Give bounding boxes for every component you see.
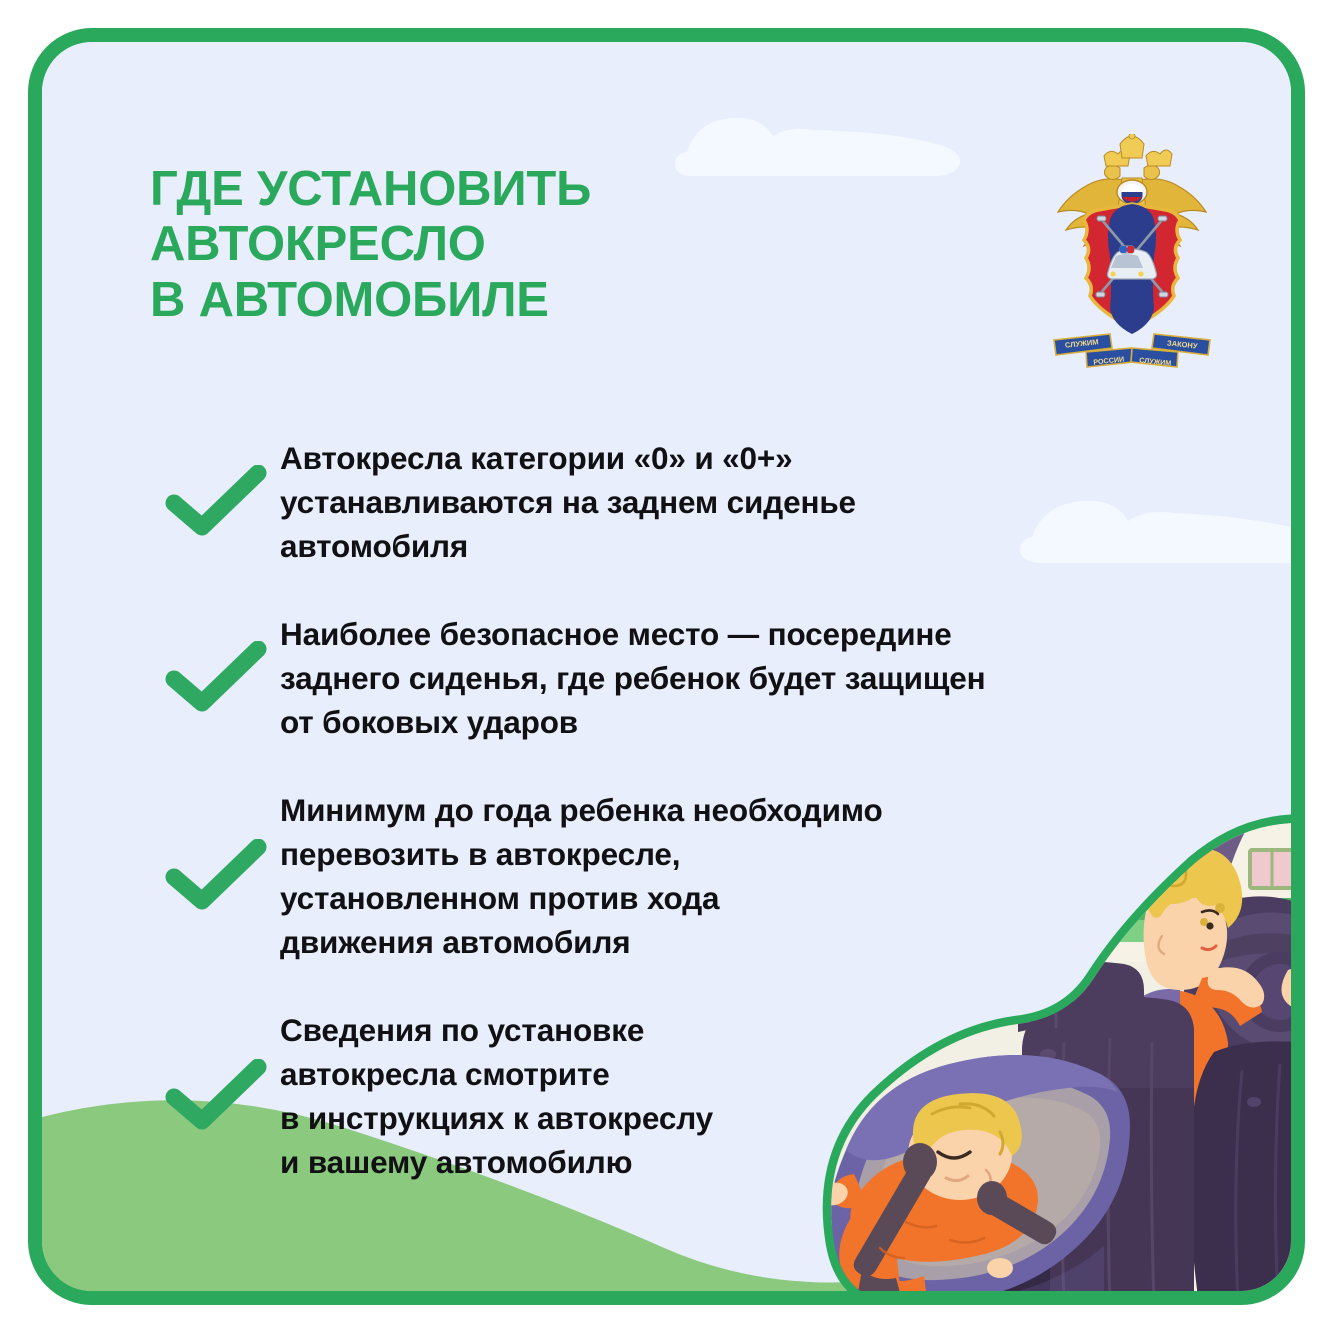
bullet-line: перевозить в автокресле, bbox=[280, 832, 1172, 876]
bullet-line: и вашему автомобилю bbox=[280, 1140, 1172, 1184]
bullet-line: от боковых ударов bbox=[280, 700, 1172, 744]
title-line-1: ГДЕ УСТАНОВИТЬ bbox=[150, 162, 770, 217]
list-item-text: Минимум до года ребенка необходимо перев… bbox=[280, 786, 1172, 964]
gibdd-shield bbox=[1084, 204, 1180, 334]
list-item-text: Автокресла категории «0» и «0+» устанавл… bbox=[280, 434, 1172, 568]
bullet-line: Автокресла категории «0» и «0+» bbox=[280, 436, 1172, 480]
title-line-3: В АВТОМОБИЛЕ bbox=[150, 273, 770, 328]
check-icon bbox=[152, 462, 280, 540]
list-item: Наиболее безопасное место — посередине з… bbox=[152, 610, 1172, 744]
mvd-emblem-icon: СЛУЖИМ ЗАКОНУ РОССИИ СЛУЖИМ bbox=[1042, 134, 1222, 384]
bullet-line: движения автомобиля bbox=[280, 920, 1172, 964]
bullet-line: заднего сиденья, где ребенок будет защищ… bbox=[280, 656, 1172, 700]
motto-center-top: РОССИИ bbox=[1093, 354, 1125, 366]
bullet-line: автомобиля bbox=[280, 524, 1172, 568]
infographic-poster: ГДЕ УСТАНОВИТЬ АВТОКРЕСЛО В АВТОМОБИЛЕ bbox=[28, 28, 1305, 1305]
bullet-line: в инструкциях к автокреслу bbox=[280, 1096, 1172, 1140]
bullet-line: установленном против хода bbox=[280, 876, 1172, 920]
bullet-list: Автокресла категории «0» и «0+» устанавл… bbox=[152, 434, 1172, 1184]
list-item: Минимум до года ребенка необходимо перев… bbox=[152, 786, 1172, 964]
list-item-text: Наиболее безопасное место — посередине з… bbox=[280, 610, 1172, 744]
front-seat bbox=[1189, 1041, 1305, 1305]
check-icon bbox=[152, 836, 280, 914]
list-item-text: Сведения по установке автокресла смотрит… bbox=[280, 1006, 1172, 1184]
bullet-line: устанавливаются на заднем сиденье bbox=[280, 480, 1172, 524]
bullet-line: Наиболее безопасное место — посередине bbox=[280, 612, 1172, 656]
bullet-line: Сведения по установке bbox=[280, 1008, 1172, 1052]
check-icon bbox=[152, 638, 280, 716]
title-line-2: АВТОКРЕСЛО bbox=[150, 217, 770, 272]
emblem-motto-ribbon: СЛУЖИМ ЗАКОНУ РОССИИ СЛУЖИМ bbox=[1054, 334, 1210, 368]
bullet-line: автокресла смотрите bbox=[280, 1052, 1172, 1096]
list-item: Сведения по установке автокресла смотрит… bbox=[152, 1006, 1172, 1184]
list-item: Автокресла категории «0» и «0+» устанавл… bbox=[152, 434, 1172, 568]
check-icon bbox=[152, 1056, 280, 1134]
page-title: ГДЕ УСТАНОВИТЬ АВТОКРЕСЛО В АВТОМОБИЛЕ bbox=[150, 162, 770, 328]
bullet-line: Минимум до года ребенка необходимо bbox=[280, 788, 1172, 832]
